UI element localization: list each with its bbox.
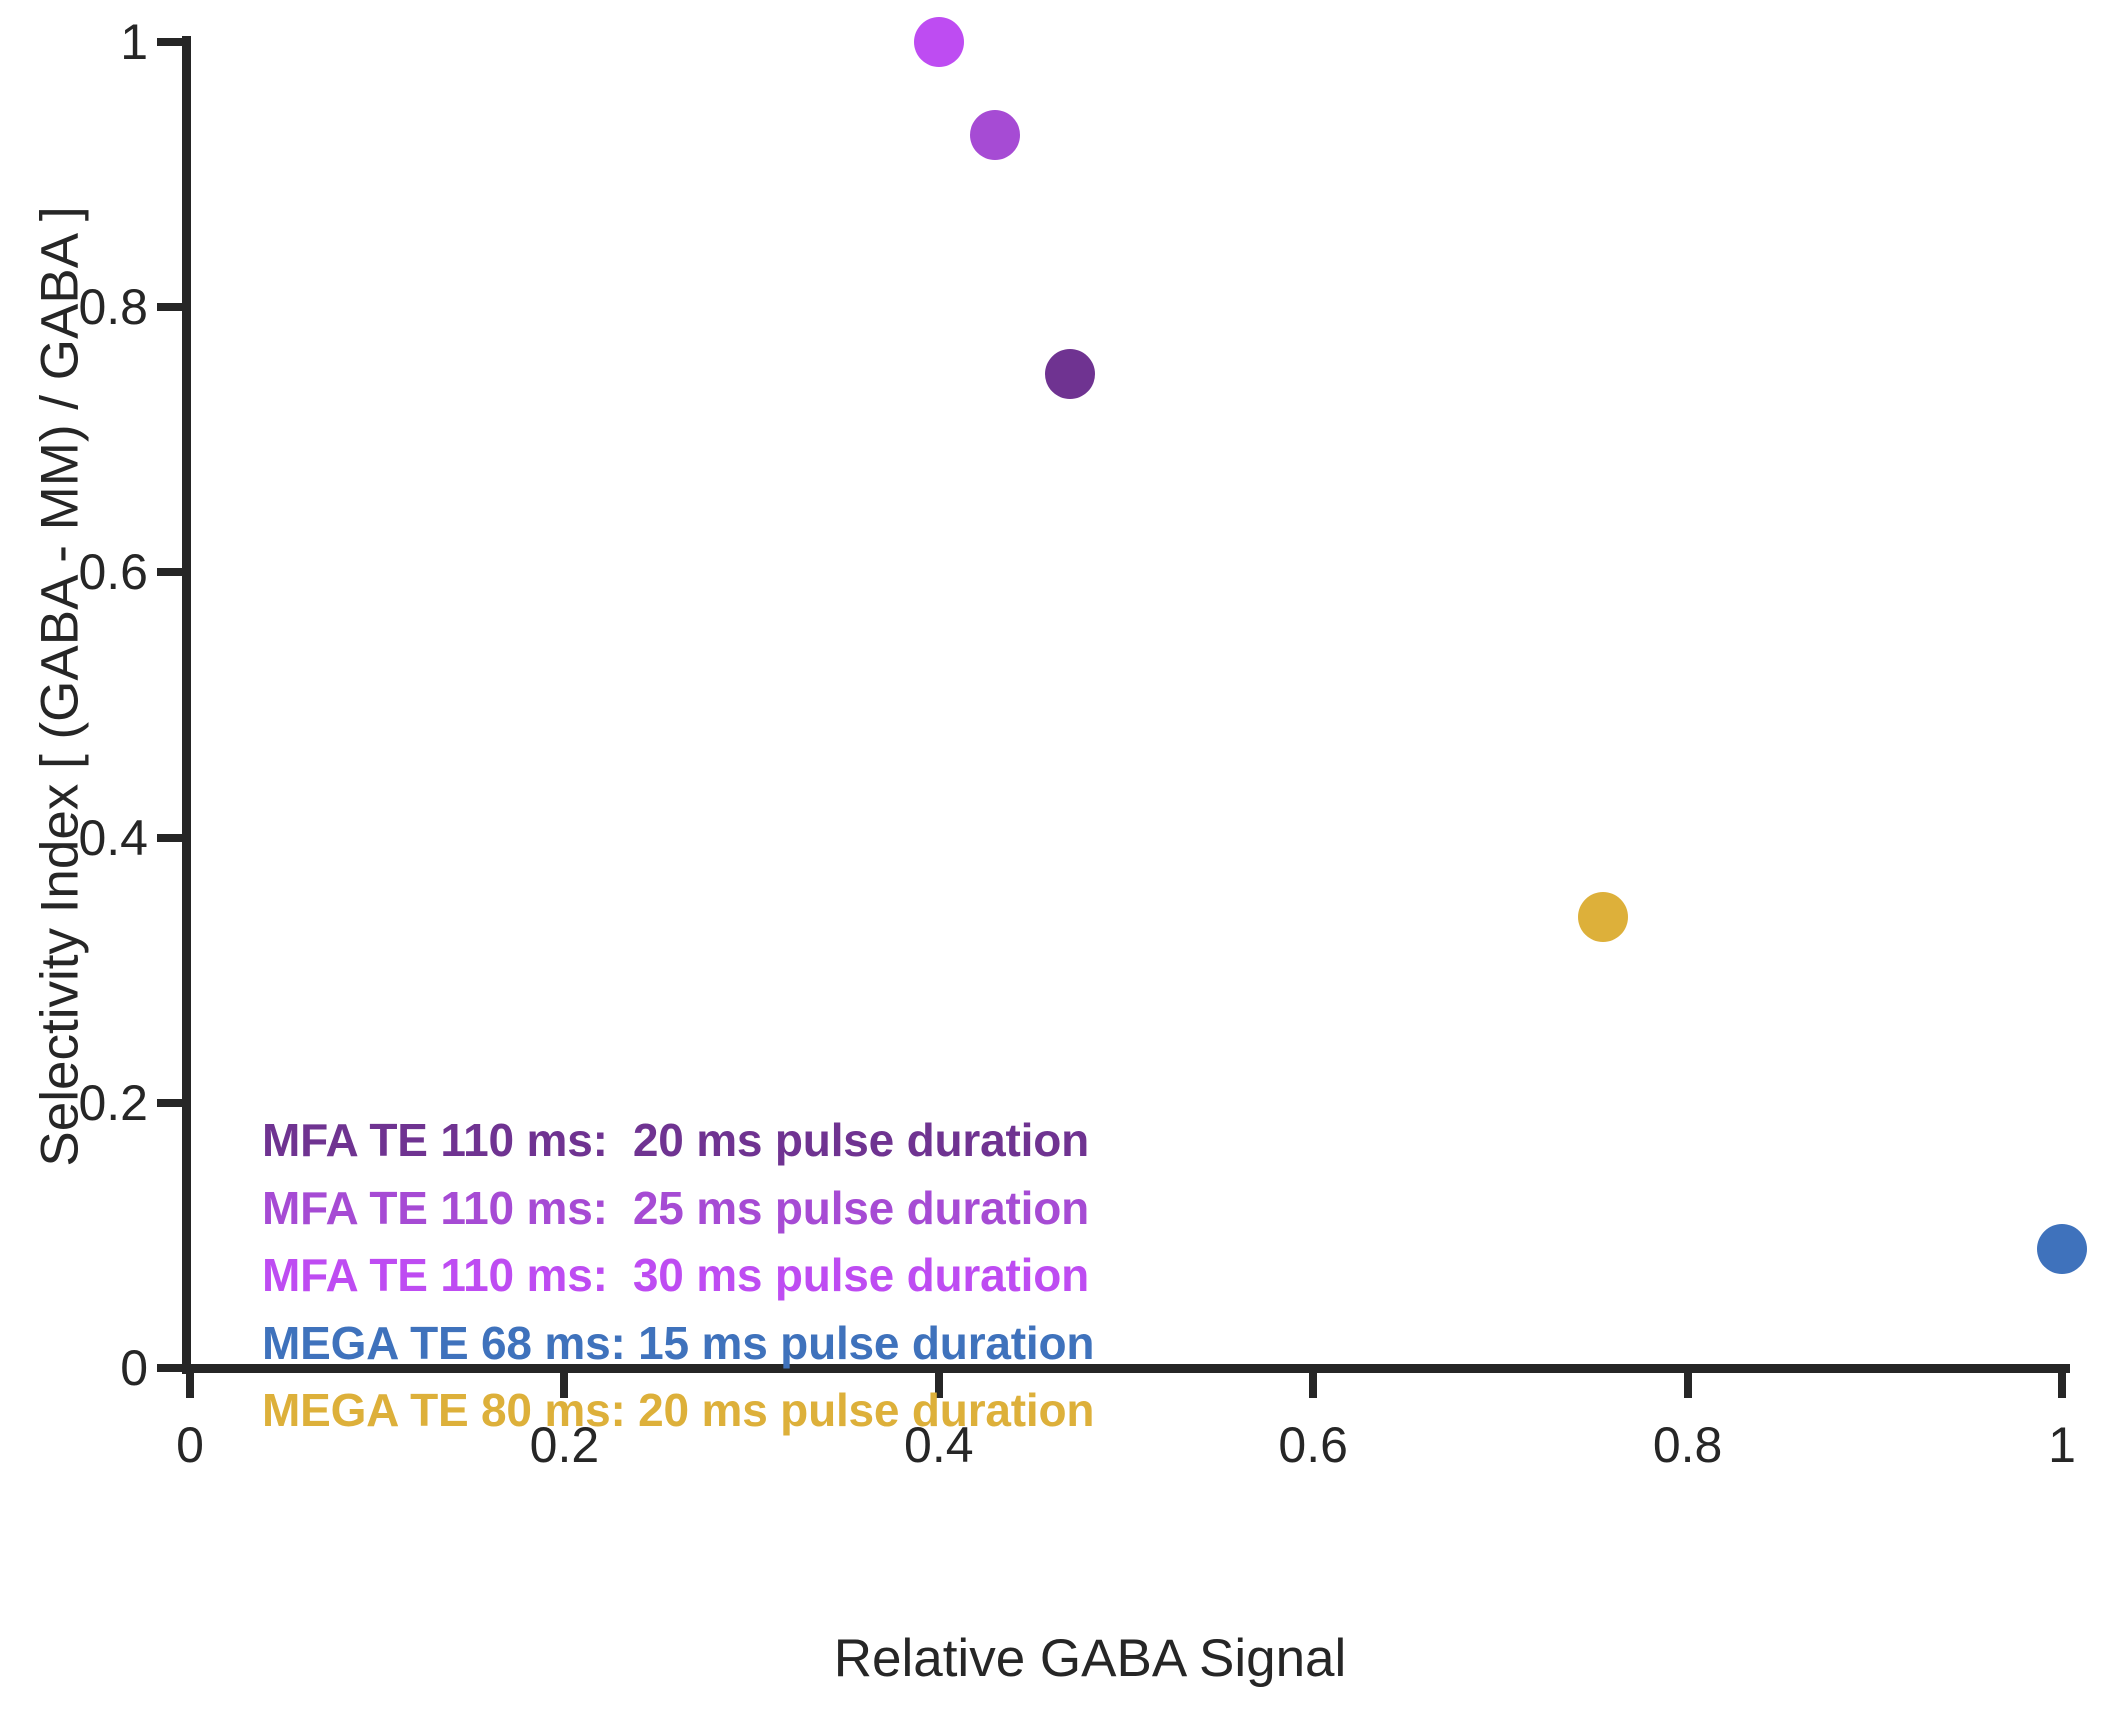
y-axis-tick xyxy=(157,38,183,46)
legend-entry: MEGA TE 68 ms: 15 ms pulse duration xyxy=(262,1310,1094,1378)
y-axis-tick xyxy=(157,568,183,576)
x-axis-tick-label: 0.8 xyxy=(1653,1420,1723,1470)
y-axis-line xyxy=(182,36,191,1374)
legend-entry: MFA TE 110 ms: 25 ms pulse duration xyxy=(262,1175,1094,1243)
x-axis-tick xyxy=(2058,1372,2066,1398)
data-point xyxy=(914,17,964,67)
legend-entry: MFA TE 110 ms: 20 ms pulse duration xyxy=(262,1107,1094,1175)
data-point xyxy=(970,110,1020,160)
data-point xyxy=(1045,349,1095,399)
x-axis-tick-label: 0.6 xyxy=(1278,1420,1348,1470)
x-axis-tick xyxy=(1309,1372,1317,1398)
x-axis-title: Relative GABA Signal xyxy=(0,1632,2114,1685)
y-axis-tick xyxy=(157,1099,183,1107)
x-axis-tick-label: 1 xyxy=(2048,1420,2076,1470)
y-axis-tick xyxy=(157,303,183,311)
legend-entry: MEGA TE 80 ms: 20 ms pulse duration xyxy=(262,1377,1094,1445)
legend: MFA TE 110 ms: 20 ms pulse durationMFA T… xyxy=(262,1107,1094,1445)
x-axis-title-text: Relative GABA Signal xyxy=(834,1632,1347,1685)
x-axis-tick xyxy=(186,1372,194,1398)
data-point xyxy=(2037,1224,2087,1274)
data-point xyxy=(1578,892,1628,942)
x-axis-tick xyxy=(1684,1372,1692,1398)
y-axis-tick xyxy=(157,834,183,842)
legend-entry: MFA TE 110 ms: 30 ms pulse duration xyxy=(262,1242,1094,1310)
y-axis-tick xyxy=(157,1364,183,1372)
scatter-plot-figure: 00.20.40.60.8100.20.40.60.81 Selectivity… xyxy=(0,0,2114,1717)
y-axis-title: Selectivity Index [ (GABA - MM) / GABA ] xyxy=(34,17,87,1357)
x-axis-tick-label: 0 xyxy=(176,1420,204,1470)
